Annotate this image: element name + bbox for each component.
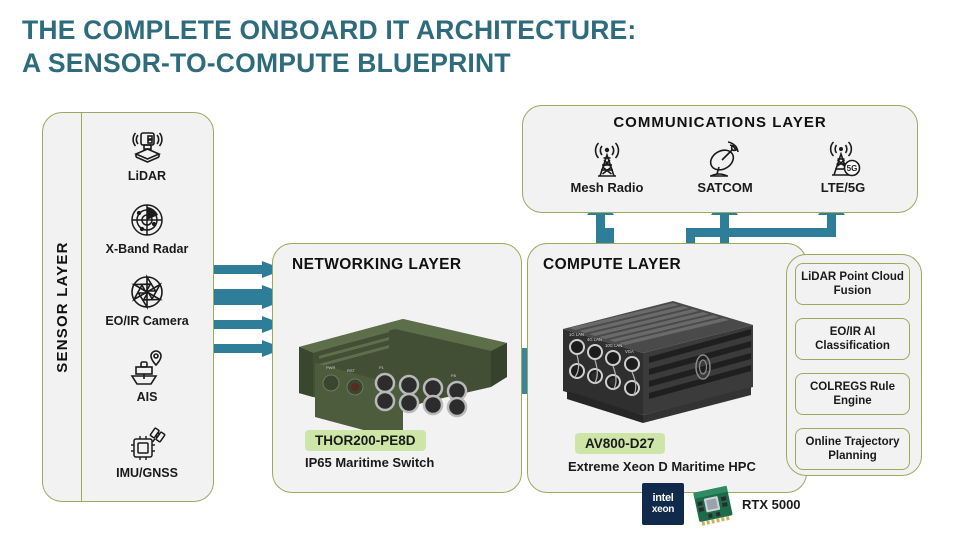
intel-xeon-logo: intel xeon xyxy=(642,483,684,525)
svg-text:PWR: PWR xyxy=(326,365,335,370)
compute-layer-title: COMPUTE LAYER xyxy=(543,256,681,274)
compute-device-subtitle: Extreme Xeon D Maritime HPC xyxy=(568,459,756,474)
svg-text:1G LAN: 1G LAN xyxy=(569,332,584,337)
sensor-label-camera: EO/IR Camera xyxy=(105,314,188,328)
networking-layer-title: NETWORKING LAYER xyxy=(292,256,461,274)
svg-text:RST: RST xyxy=(347,368,356,373)
svg-text:VGA: VGA xyxy=(625,349,634,354)
comms-item-satcom[interactable]: SATCOM xyxy=(670,140,780,195)
intel-logo-line-2: xeon xyxy=(652,504,674,516)
svg-text:P1: P1 xyxy=(379,365,385,370)
rugged-hpc-device: 1G LAN4G LAN 10G LANVGA xyxy=(553,295,783,430)
comms-label-mesh-radio: Mesh Radio xyxy=(571,180,644,195)
sensor-item-radar[interactable]: X-Band Radar xyxy=(92,200,202,256)
comms-label-satcom: SATCOM xyxy=(697,180,752,195)
title-line-1: THE COMPLETE ONBOARD IT ARCHITECTURE: xyxy=(22,14,922,47)
comms-label-lte-5g: LTE/5G xyxy=(821,180,866,195)
radar-icon xyxy=(127,200,167,240)
gpu-module-icon xyxy=(690,483,736,525)
satellite-dish-icon xyxy=(706,140,744,180)
networking-badge-label: THOR200-PE8D xyxy=(305,430,426,451)
svg-text:P8: P8 xyxy=(451,373,457,378)
lidar-icon xyxy=(127,127,167,167)
ai-box-colregs-rule-engine[interactable]: COLREGS Rule Engine xyxy=(795,373,910,415)
sensor-item-ais[interactable]: AIS xyxy=(92,348,202,404)
comms-item-lte-5g[interactable]: 5G LTE/5G xyxy=(788,140,898,195)
page-title: THE COMPLETE ONBOARD IT ARCHITECTURE: A … xyxy=(22,14,922,79)
rugged-switch-device: PWRRST P1P8 xyxy=(285,305,507,415)
ai-box-eoir-ai-classification[interactable]: EO/IR AI Classification xyxy=(795,318,910,360)
imu-chip-satellite-icon xyxy=(127,424,167,464)
sensor-label-radar: X-Band Radar xyxy=(106,242,189,256)
networking-device-subtitle: IP65 Maritime Switch xyxy=(305,455,434,470)
sensor-label-ais: AIS xyxy=(137,390,158,404)
sensor-item-imu-gnss[interactable]: IMU/GNSS xyxy=(92,424,202,480)
gpu-label: RTX 5000 xyxy=(742,497,801,512)
title-line-2: A SENSOR-TO-COMPUTE BLUEPRINT xyxy=(22,47,922,80)
comms-item-mesh-radio[interactable]: Mesh Radio xyxy=(552,140,662,195)
networking-device-badge: THOR200-PE8D xyxy=(305,430,426,451)
compute-badge-label: AV800-D27 xyxy=(575,433,665,454)
sensor-item-camera[interactable]: EO/IR Camera xyxy=(92,272,202,328)
logo-row: intel xeon RTX 5000 xyxy=(642,483,801,525)
compute-device-badge: AV800-D27 xyxy=(575,433,665,454)
sensor-label-imu-gnss: IMU/GNSS xyxy=(116,466,178,480)
lte-5g-tower-icon: 5G xyxy=(824,140,862,180)
svg-text:4G LAN: 4G LAN xyxy=(587,337,602,342)
ai-box-lidar-point-cloud-fusion[interactable]: LiDAR Point Cloud Fusion xyxy=(795,263,910,305)
communications-layer-title: COMMUNICATIONS LAYER xyxy=(522,114,918,131)
mesh-radio-tower-icon xyxy=(588,140,626,180)
svg-text:10G LAN: 10G LAN xyxy=(605,343,622,348)
intel-logo-line-1: intel xyxy=(652,493,673,504)
ship-location-icon xyxy=(127,348,167,388)
camera-aperture-icon xyxy=(127,272,167,312)
ai-box-online-trajectory-planning[interactable]: Online Trajectory Planning xyxy=(795,428,910,470)
sensor-layer-title: SENSOR LAYER xyxy=(42,112,82,502)
svg-text:5G: 5G xyxy=(847,164,858,173)
sensor-label-lidar: LiDAR xyxy=(128,169,166,183)
sensor-item-lidar[interactable]: LiDAR xyxy=(92,127,202,183)
